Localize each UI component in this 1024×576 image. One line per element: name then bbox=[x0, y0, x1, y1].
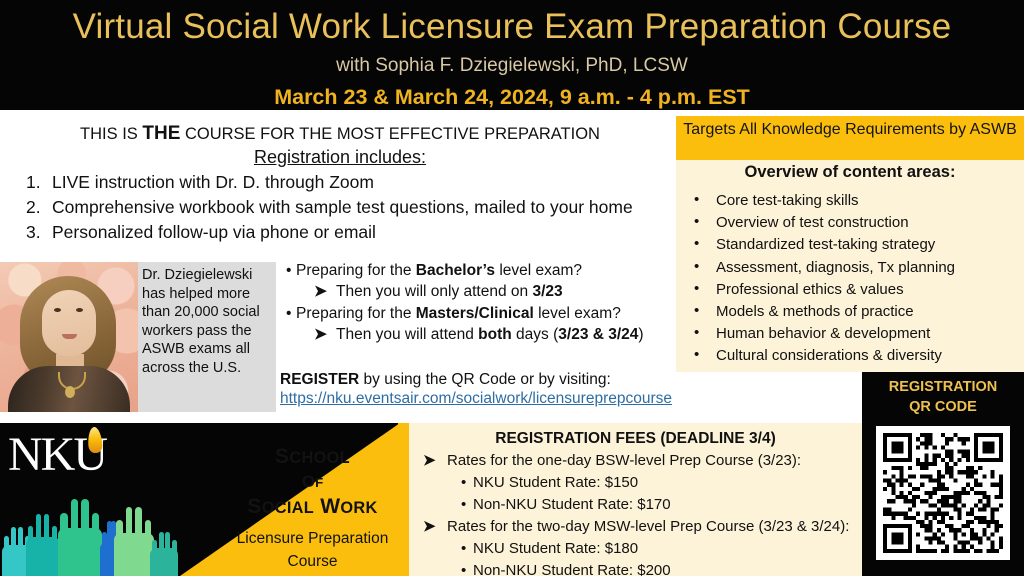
fee-label: NKU Student Rate: $180 bbox=[473, 540, 638, 557]
arrow-bullet-icon: ➤ bbox=[314, 281, 336, 302]
content-areas-subtitle: Overview of content areas: bbox=[676, 163, 1024, 182]
photo-eye-right bbox=[76, 308, 83, 312]
aswb-banner: Targets All Knowledge Requirements by AS… bbox=[676, 116, 1024, 160]
header-banner: Virtual Social Work Licensure Exam Prepa… bbox=[0, 0, 1024, 110]
lead-suffix: COURSE FOR THE MOST EFFECTIVE PREPARATIO… bbox=[180, 125, 600, 143]
exam-level-text: Then you will only attend on bbox=[336, 283, 532, 300]
content-area-item: •Models & methods of practice bbox=[690, 301, 1024, 323]
hand-finger bbox=[92, 513, 100, 576]
bullet-icon: • bbox=[286, 260, 296, 281]
hand-silhouette bbox=[150, 526, 178, 576]
raised-hands-icon bbox=[0, 485, 210, 576]
hand-finger bbox=[36, 514, 41, 576]
bullet-icon: • bbox=[694, 322, 699, 344]
fee-row: •NKU Student Rate: $150 bbox=[409, 472, 862, 494]
fee-row: ➤Rates for the one-day BSW-level Prep Co… bbox=[409, 450, 862, 472]
exam-level-text: days ( bbox=[512, 326, 559, 343]
nku-brand-banner: NKU SCHOOL OF SOCIAL WORK Licensure Prep… bbox=[0, 423, 400, 576]
fee-label: Rates for the two-day MSW-level Prep Cou… bbox=[447, 518, 849, 535]
exam-level-text: 3/23 bbox=[532, 283, 562, 300]
hand-silhouette bbox=[26, 506, 60, 576]
list-item-label: Personalized follow-up via phone or emai… bbox=[52, 222, 376, 242]
arrow-bullet-icon: ➤ bbox=[314, 324, 336, 345]
exam-level-row: •Preparing for the Bachelor’s level exam… bbox=[280, 260, 670, 281]
content-area-item: •Cultural considerations & diversity bbox=[690, 345, 1024, 367]
bullet-icon: • bbox=[694, 278, 699, 300]
bullet-icon: • bbox=[461, 560, 473, 576]
bullet-icon: • bbox=[286, 303, 296, 324]
hand-finger bbox=[81, 499, 89, 576]
content-area-label: Assessment, diagnosis, Tx planning bbox=[716, 259, 955, 276]
fee-row: •NKU Student Rate: $180 bbox=[409, 538, 862, 560]
hand-finger bbox=[159, 532, 164, 576]
hand-finger bbox=[18, 527, 23, 576]
exam-level-text: ) bbox=[638, 326, 643, 343]
hand-finger bbox=[126, 507, 133, 576]
lead-prefix: THIS IS bbox=[80, 125, 142, 143]
hand-silhouette bbox=[58, 488, 102, 576]
fee-label: Rates for the one-day BSW-level Prep Cou… bbox=[447, 452, 801, 469]
list-item-label: LIVE instruction with Dr. D. through Zoo… bbox=[52, 172, 374, 192]
content-area-item: •Standardized test-taking strategy bbox=[690, 234, 1024, 256]
exam-level-text: both bbox=[478, 326, 512, 343]
flyer-root: Virtual Social Work Licensure Exam Prepa… bbox=[0, 0, 1024, 576]
school-of-social-work-text: SCHOOL OF SOCIAL WORK Licensure Preparat… bbox=[225, 443, 400, 573]
lead-statement: THIS IS THE COURSE FOR THE MOST EFFECTIV… bbox=[40, 124, 640, 145]
qr-title-line-2: QR CODE bbox=[909, 399, 977, 415]
hand-finger bbox=[11, 527, 16, 576]
exam-level-text: 3/23 & 3/24 bbox=[558, 326, 638, 343]
content-area-item: •Human behavior & development bbox=[690, 323, 1024, 345]
list-item: 2.Comprehensive workbook with sample tes… bbox=[12, 195, 672, 220]
hand-finger bbox=[60, 513, 68, 576]
exam-level-text: level exam? bbox=[534, 305, 621, 322]
fee-row: ➤Rates for the two-day MSW-level Prep Co… bbox=[409, 516, 862, 538]
hand-finger bbox=[165, 532, 170, 576]
content-area-item: •Assessment, diagnosis, Tx planning bbox=[690, 257, 1024, 279]
fee-label: NKU Student Rate: $150 bbox=[473, 474, 638, 491]
content-area-label: Standardized test-taking strategy bbox=[716, 236, 935, 253]
fee-row: •Non-NKU Student Rate: $200 bbox=[409, 560, 862, 576]
content-area-label: Professional ethics & values bbox=[716, 281, 904, 298]
list-item-number: 2. bbox=[26, 195, 41, 220]
bullet-icon: • bbox=[694, 211, 699, 233]
sw-line-3: SOCIAL WORK bbox=[225, 493, 400, 521]
bullet-icon: • bbox=[461, 494, 473, 516]
content-area-label: Cultural considerations & diversity bbox=[716, 347, 942, 364]
hand-finger bbox=[52, 526, 57, 576]
bullet-icon: • bbox=[461, 538, 473, 560]
exam-level-text: Bachelor’s bbox=[416, 262, 495, 279]
list-item-number: 3. bbox=[26, 220, 41, 245]
photo-caption-block: Dr. Dziegielewski has helped more than 2… bbox=[0, 262, 276, 412]
bullet-icon: • bbox=[461, 472, 473, 494]
hand-finger bbox=[135, 507, 142, 576]
photo-pendant bbox=[65, 386, 75, 398]
lead-emphasis: THE bbox=[142, 123, 180, 144]
exam-level-bullets: •Preparing for the Bachelor’s level exam… bbox=[280, 260, 670, 346]
list-item-number: 1. bbox=[26, 170, 41, 195]
exam-level-text: Then you will attend bbox=[336, 326, 478, 343]
exam-level-row: ➤Then you will attend both days (3/23 & … bbox=[280, 324, 670, 345]
photo-eye-left bbox=[54, 308, 61, 312]
arrow-bullet-icon: ➤ bbox=[423, 450, 447, 472]
exam-level-text: Preparing for the bbox=[296, 305, 416, 322]
content-areas-list: •Core test-taking skills•Overview of tes… bbox=[690, 190, 1024, 368]
fee-row: •Non-NKU Student Rate: $170 bbox=[409, 494, 862, 516]
presenter-subtitle: with Sophia F. Dziegielewski, PhD, LCSW bbox=[0, 44, 1024, 75]
registration-includes-label: Registration includes: bbox=[254, 147, 426, 167]
registration-includes-list: 1.LIVE instruction with Dr. D. through Z… bbox=[12, 170, 672, 245]
hand-finger bbox=[44, 514, 49, 576]
content-area-label: Human behavior & development bbox=[716, 325, 930, 342]
bullet-icon: • bbox=[694, 344, 699, 366]
fees-title: REGISTRATION FEES (DEADLINE 3/4) bbox=[409, 430, 862, 448]
exam-level-row: ➤Then you will only attend on 3/23 bbox=[280, 281, 670, 302]
arrow-bullet-icon: ➤ bbox=[423, 516, 447, 538]
content-area-label: Overview of test construction bbox=[716, 214, 909, 231]
registration-includes-heading: Registration includes: bbox=[40, 148, 640, 168]
sw-line-2: OF bbox=[225, 471, 400, 493]
hand-silhouette bbox=[114, 498, 154, 576]
fee-label: Non-NKU Student Rate: $200 bbox=[473, 562, 671, 576]
fees-gold-stripe bbox=[398, 423, 409, 576]
content-area-label: Models & methods of practice bbox=[716, 303, 914, 320]
content-area-label: Core test-taking skills bbox=[716, 192, 859, 209]
register-instruction: REGISTER by using the QR Code or by visi… bbox=[280, 370, 700, 391]
instructor-photo bbox=[0, 262, 138, 412]
qr-title-line-1: REGISTRATION bbox=[889, 379, 997, 395]
hand-finger bbox=[152, 540, 157, 576]
qr-code-title: REGISTRATION QR CODE bbox=[862, 378, 1024, 417]
exam-level-text: level exam? bbox=[495, 262, 582, 279]
event-dates: March 23 & March 24, 2024, 9 a.m. - 4 p.… bbox=[0, 75, 1024, 109]
list-item-label: Comprehensive workbook with sample test … bbox=[52, 197, 633, 217]
hand-finger bbox=[172, 540, 177, 576]
register-label: REGISTER bbox=[280, 371, 359, 388]
exam-level-row: •Preparing for the Masters/Clinical leve… bbox=[280, 303, 670, 324]
page-title: Virtual Social Work Licensure Exam Prepa… bbox=[0, 0, 1024, 44]
content-area-item: •Overview of test construction bbox=[690, 212, 1024, 234]
register-text: by using the QR Code or by visiting: bbox=[359, 371, 611, 388]
fee-label: Non-NKU Student Rate: $170 bbox=[473, 496, 671, 513]
hand-finger bbox=[28, 526, 33, 576]
bullet-icon: • bbox=[694, 256, 699, 278]
exam-level-text: Masters/Clinical bbox=[416, 305, 534, 322]
bullet-icon: • bbox=[694, 189, 699, 211]
hand-finger bbox=[116, 520, 123, 576]
list-item: 1.LIVE instruction with Dr. D. through Z… bbox=[12, 170, 672, 195]
qr-code-icon[interactable] bbox=[876, 426, 1010, 560]
content-area-item: •Core test-taking skills bbox=[690, 190, 1024, 212]
hand-finger bbox=[71, 499, 79, 576]
sw-line-1: SCHOOL bbox=[225, 443, 400, 471]
photo-caption-text: Dr. Dziegielewski has helped more than 2… bbox=[142, 266, 272, 377]
registration-link[interactable]: https://nku.eventsair.com/socialwork/lic… bbox=[280, 390, 672, 408]
bullet-icon: • bbox=[694, 233, 699, 255]
content-area-item: •Professional ethics & values bbox=[690, 279, 1024, 301]
photo-face bbox=[42, 290, 96, 356]
fees-list: ➤Rates for the one-day BSW-level Prep Co… bbox=[409, 450, 862, 576]
exam-level-text: Preparing for the bbox=[296, 262, 416, 279]
list-item: 3.Personalized follow-up via phone or em… bbox=[12, 220, 672, 245]
hand-finger bbox=[4, 536, 9, 576]
bullet-icon: • bbox=[694, 300, 699, 322]
sw-line-4: Licensure Preparation Course bbox=[225, 521, 400, 574]
